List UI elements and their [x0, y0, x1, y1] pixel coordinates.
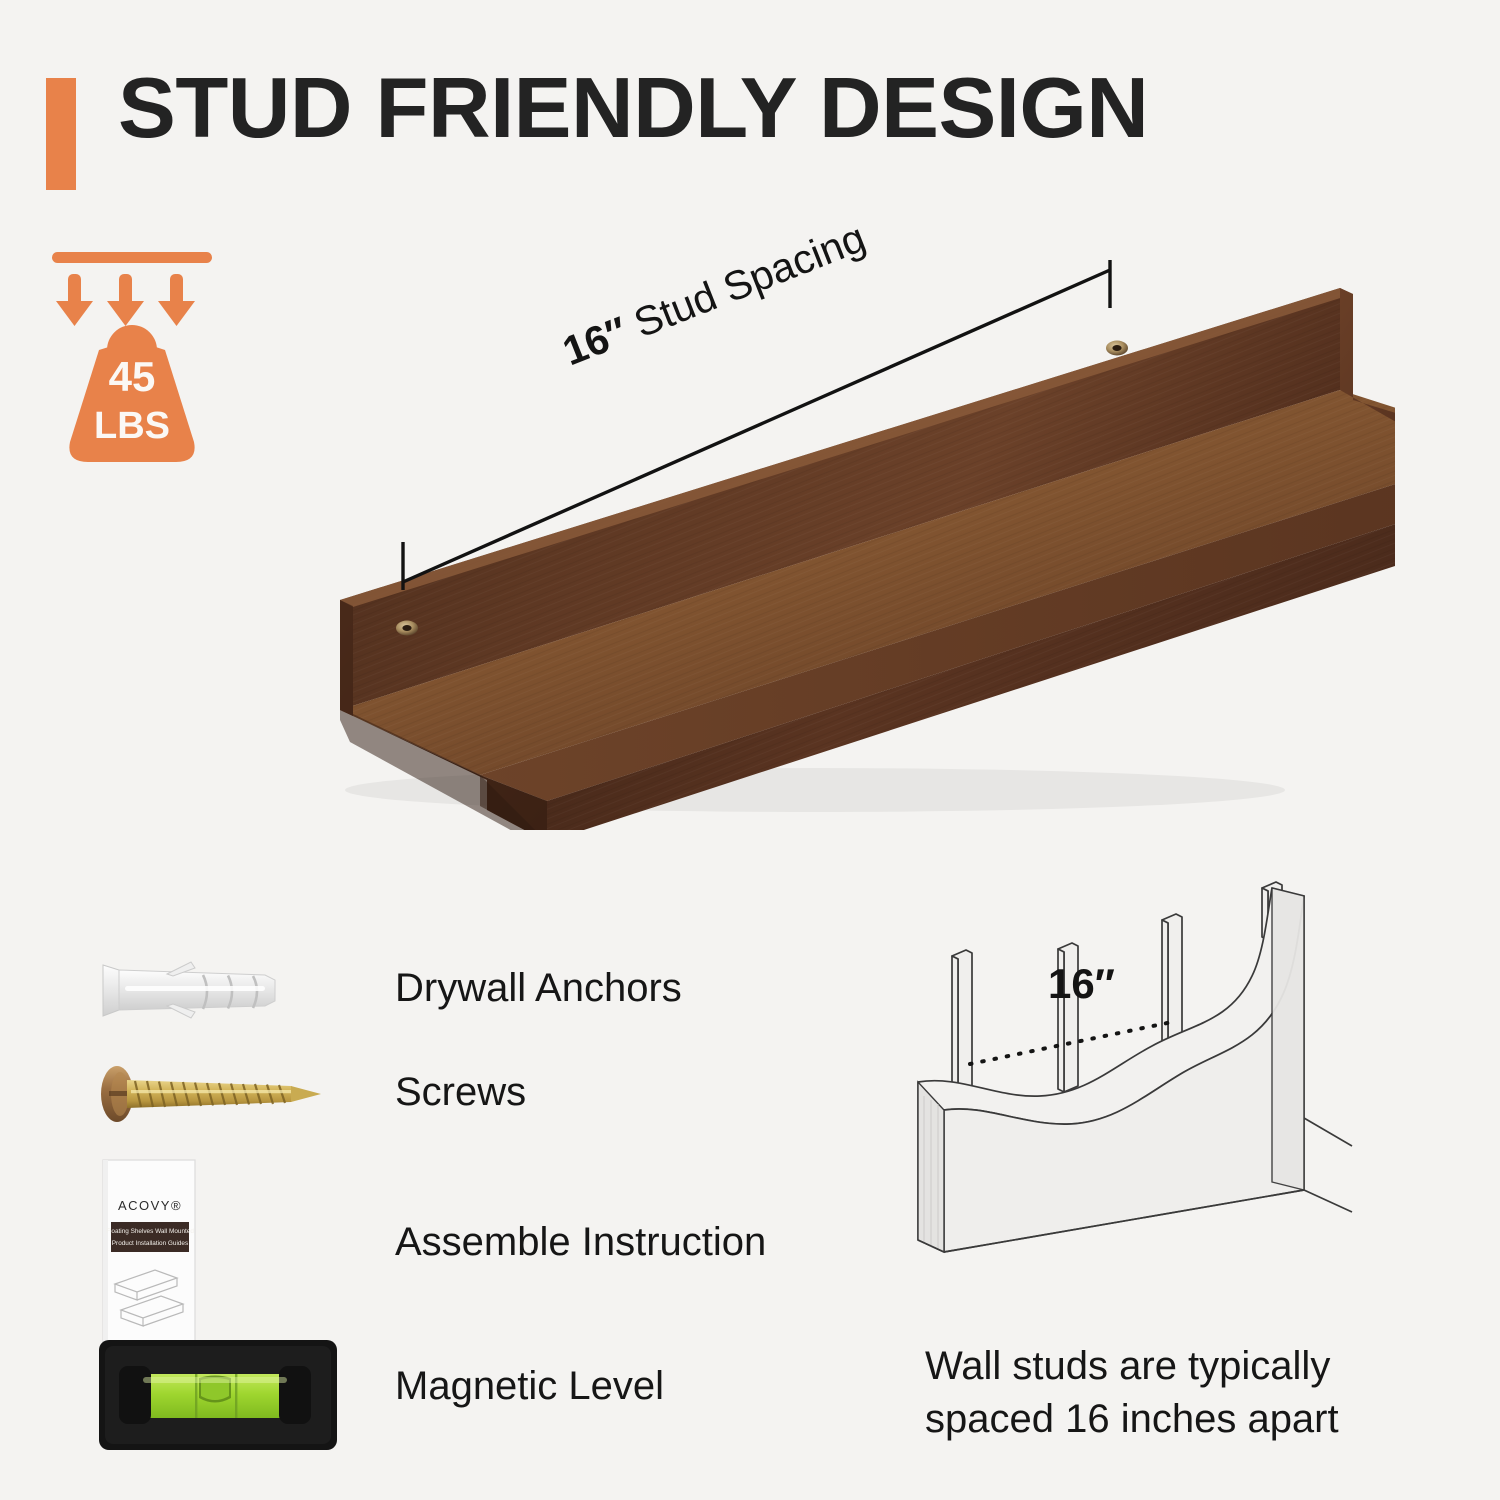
infographic-canvas: STUD FRIENDLY DESIGN 45 LBS	[0, 0, 1500, 1500]
page-title: STUD FRIENDLY DESIGN	[118, 66, 1148, 151]
title-accent-bar	[46, 78, 76, 190]
floating-shelf-ledge	[255, 250, 1395, 830]
stud-caption: Wall studs are typically spaced 16 inche…	[925, 1340, 1395, 1446]
weight-value: 45	[109, 353, 156, 400]
magnetic-level-icon	[95, 1322, 345, 1472]
booklet-brand: ACOVY®	[118, 1198, 182, 1213]
booklet-line1: Floating Shelves Wall Mounted	[106, 1228, 194, 1235]
stud-measure-label: 16″	[1048, 960, 1115, 1007]
wall-stud-cutaway-diagram: 16″	[900, 860, 1370, 1310]
accessory-row-level: Magnetic Level	[95, 1322, 855, 1472]
weight-capacity-badge: 45 LBS	[42, 246, 222, 478]
accessory-label-screws: Screws	[395, 1070, 526, 1115]
stud-caption-line2: spaced 16 inches apart	[925, 1393, 1395, 1446]
screw-icon	[95, 1052, 340, 1142]
shelf-product-figure	[255, 250, 1395, 830]
weight-unit: LBS	[94, 405, 170, 447]
screw-hole-left	[396, 621, 418, 636]
accessory-label-level: Magnetic Level	[395, 1364, 664, 1409]
drywall-anchor-icon	[95, 948, 305, 1038]
screw-hole-right	[1106, 341, 1128, 356]
accessory-label-instruction: Assemble Instruction	[395, 1220, 766, 1265]
accessory-row-anchors: Drywall Anchors	[95, 948, 855, 1043]
stud-caption-line1: Wall studs are typically	[925, 1340, 1395, 1393]
accessory-label-anchors: Drywall Anchors	[395, 966, 682, 1011]
accessory-row-screws: Screws	[95, 1052, 855, 1147]
weight-load-icon: 45 LBS	[42, 246, 222, 478]
booklet-line2: Product Installation Guides	[112, 1240, 188, 1247]
